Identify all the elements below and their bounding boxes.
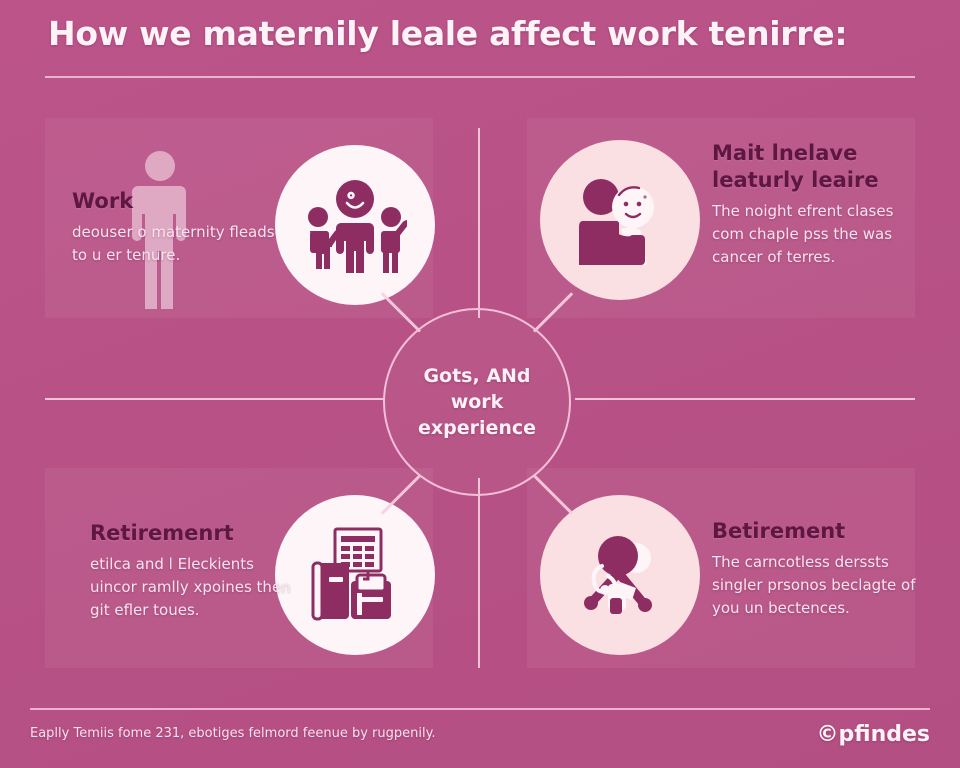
- quadrant-heading-top-right: Mait lnelave leaturly leaire: [712, 140, 927, 194]
- quadrant-heading-bottom-left: Retiremenrt: [90, 520, 305, 547]
- header: How we maternily leale affect work tenir…: [0, 0, 960, 96]
- footer-divider: [30, 708, 930, 710]
- infographic-canvas: How we maternily leale affect work tenir…: [0, 0, 960, 768]
- quadrant-text-bottom-left: Retiremenrt etilca and l Eleckients uinc…: [90, 520, 305, 622]
- divider-vertical-bottom: [478, 478, 480, 668]
- family-group-icon: [303, 177, 407, 273]
- quadrant-body-top-left: deouser o maternity fleads to u er tenur…: [72, 221, 287, 267]
- footer-brand: ©pfindes: [817, 722, 930, 747]
- title-divider: [45, 76, 915, 78]
- quadrant-body-bottom-right: The carncotless derssts singler prsonos …: [712, 551, 927, 620]
- center-hub[interactable]: Gots, ANd work experience: [383, 308, 571, 496]
- quadrant-body-bottom-left: etilca and l Eleckients uincor ramlly xp…: [90, 553, 305, 622]
- person-with-tools-icon: [574, 532, 666, 618]
- quadrant-text-bottom-right: Betirement The carncotless derssts singl…: [712, 518, 927, 620]
- divider-vertical-top: [478, 128, 480, 318]
- quadrant-text-top-left: Work deouser o maternity fleads to u er …: [72, 188, 287, 267]
- quadrant-heading-bottom-right: Betirement: [712, 518, 927, 545]
- footer-note: Eaplly Temiis fome 231, ebotiges felmord…: [30, 726, 436, 741]
- quadrant-body-top-right: The noight efrent clases com chaple pss …: [712, 200, 927, 269]
- parent-and-baby-icon: [573, 173, 667, 267]
- quadrant-text-top-right: Mait lnelave leaturly leaire The noight …: [712, 140, 927, 269]
- page-title: How we maternily leale affect work tenir…: [48, 14, 928, 53]
- divider-horizontal-right: [575, 398, 915, 400]
- icon-bubble-top-left[interactable]: [275, 145, 435, 305]
- quadrant-heading-top-left: Work: [72, 188, 287, 215]
- icon-bubble-bottom-right[interactable]: [540, 495, 700, 655]
- divider-horizontal-left: [45, 398, 385, 400]
- documents-briefcase-icon: [305, 525, 405, 625]
- center-hub-label: Gots, ANd work experience: [402, 363, 552, 441]
- icon-bubble-top-right[interactable]: [540, 140, 700, 300]
